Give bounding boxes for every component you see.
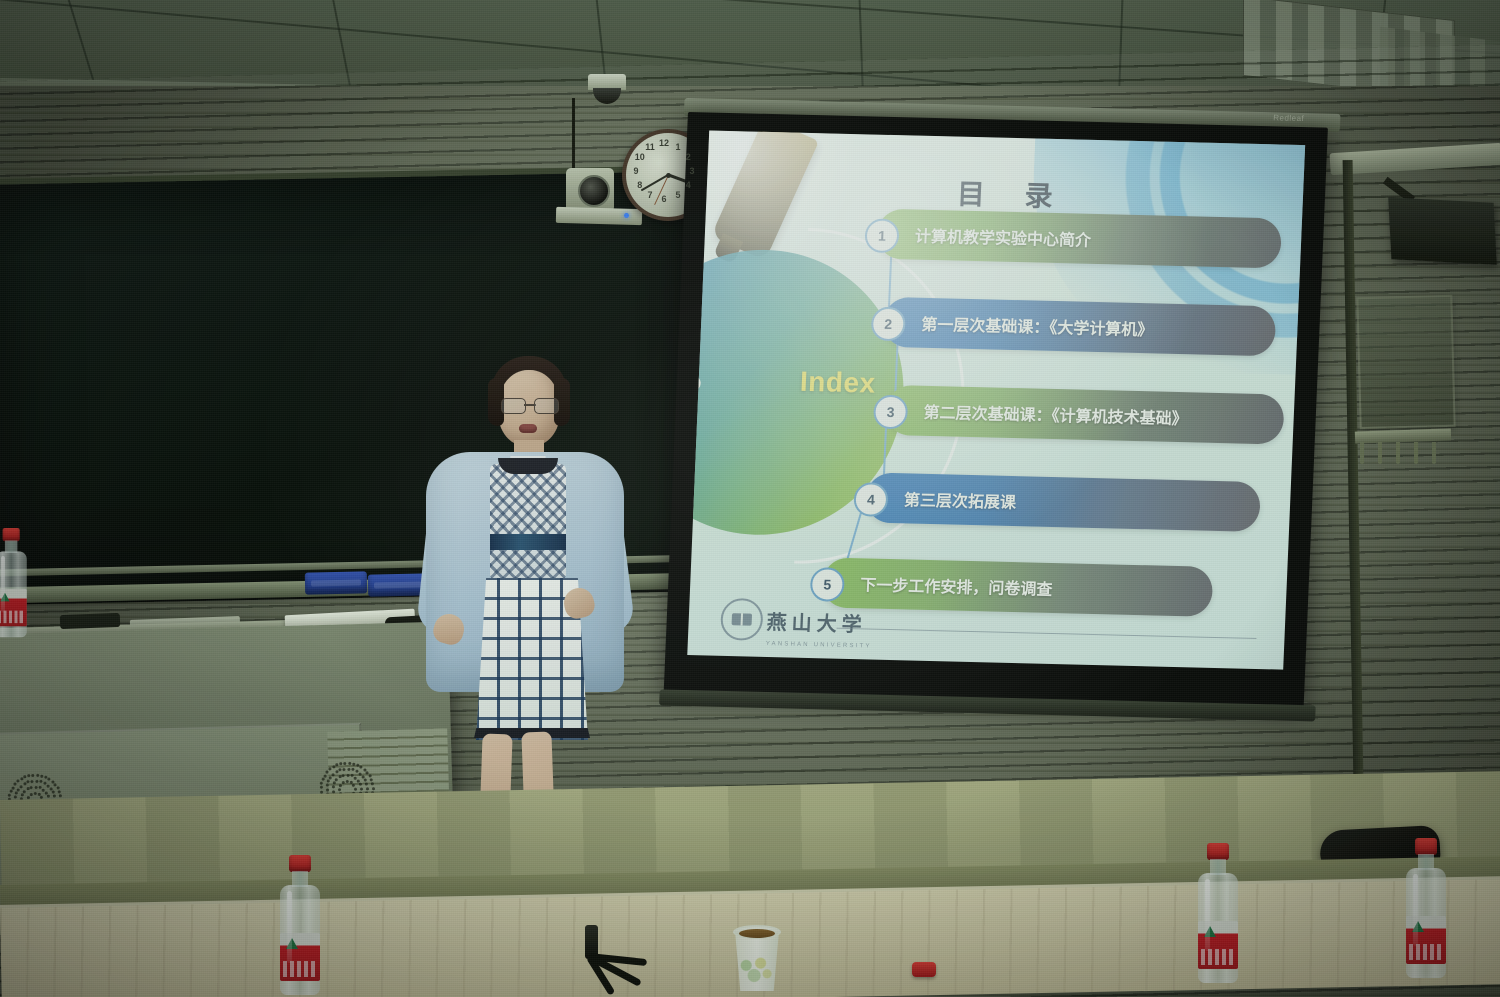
bottle-label-text [1409, 944, 1443, 960]
clock-numeral: 7 [644, 189, 656, 201]
slide-item-3: 第二层次基础课：《计算机技术基础》 [885, 385, 1285, 445]
slide-item-3-text: 第二层次基础课：《计算机技术基础》 [885, 398, 1188, 429]
bottle-cap [3, 528, 20, 541]
red-bottle-cap[interactable] [912, 962, 936, 977]
bottle-cap [289, 855, 311, 872]
status-led-indicator [624, 213, 629, 218]
slide-item-4: 第三层次拓展课 [865, 472, 1261, 532]
dark-object-on-lectern [60, 613, 120, 629]
bottle-cap [1207, 843, 1229, 860]
slide-item-5: 下一步工作安排，问卷调查 [821, 557, 1213, 616]
bottle-label-text [0, 611, 24, 623]
slide-item-1-text: 计算机教学实验中心简介 [877, 222, 1092, 251]
glasses-lens-right [534, 398, 559, 414]
slide-item-2: 第一层次基础课：《大学计算机》 [882, 297, 1276, 357]
slide-item-5-text: 下一步工作安排，问卷调查 [822, 570, 1053, 600]
microphone-stand[interactable] [563, 925, 663, 997]
clock-numeral: 3 [686, 165, 698, 177]
university-name: 燕山大学 [766, 606, 867, 637]
wall-panel [1356, 295, 1455, 429]
mouth [519, 424, 537, 433]
bottle-highlight [1205, 879, 1210, 951]
tea-surface [739, 929, 775, 938]
bottle-label-text [1201, 949, 1235, 965]
bottle-label [1406, 916, 1446, 964]
cup-pattern [739, 957, 775, 985]
wall-hooks [1358, 442, 1450, 466]
clock-numeral: 9 [630, 165, 642, 177]
projector-screen: Redleaf Index 目 录 计算机教学实验中心简介 1 第一层次基 [664, 112, 1328, 707]
clock-numeral: 11 [644, 141, 656, 153]
bottle-highlight [1413, 874, 1418, 946]
dress-collar [498, 458, 558, 474]
clock-numeral: 10 [634, 151, 646, 163]
wall-speaker-icon [1388, 197, 1497, 264]
camera-lens-icon [578, 175, 610, 207]
clock-numeral: 1 [672, 141, 684, 153]
slide-item-4-text: 第三层次拓展课 [866, 485, 1017, 513]
glasses-icon [501, 398, 559, 412]
dome-camera-icon [588, 74, 626, 90]
open-book-seal-icon [732, 613, 752, 625]
clock-numeral: 8 [634, 179, 646, 191]
board-eraser[interactable] [305, 571, 367, 594]
clock-numeral: 12 [658, 137, 670, 149]
paper-cup-with-tea[interactable] [733, 925, 781, 993]
water-bottle-table-right-a[interactable] [1196, 843, 1240, 983]
clock-center-pin [666, 173, 671, 178]
water-bottle-table-right-b[interactable] [1404, 838, 1448, 978]
bottle-label [1198, 921, 1238, 969]
bottle-highlight [1, 556, 5, 612]
slide-item-2-text: 第一层次基础课：《大学计算机》 [883, 310, 1154, 341]
bottle-cap [1415, 838, 1437, 855]
screen-brand-label: Redleaf [1273, 113, 1304, 123]
slide-footer-rule [836, 628, 1256, 639]
bottle-label-text [283, 961, 317, 977]
bottle-highlight [287, 891, 292, 963]
clock-numeral: 5 [672, 189, 684, 201]
water-bottle-chalk-tray[interactable] [0, 528, 28, 637]
clock-numeral: 6 [658, 193, 670, 205]
lecture-room-photo: 121234567891011 Redleaf Index 目 录 [0, 0, 1500, 997]
presentation-slide: Index 目 录 计算机教学实验中心简介 1 第一层次基础课：《大学计算机》 … [687, 131, 1305, 670]
university-name-latin: YANSHAN UNIVERSITY [766, 641, 872, 650]
equipment-shelf [556, 207, 642, 225]
glasses-lens-left [501, 398, 526, 414]
water-bottle-table-left[interactable] [278, 855, 322, 995]
dress-bodice [490, 464, 566, 580]
dress-waist-band [490, 534, 566, 550]
university-seal-icon [720, 598, 764, 641]
bottle-label [280, 933, 320, 981]
